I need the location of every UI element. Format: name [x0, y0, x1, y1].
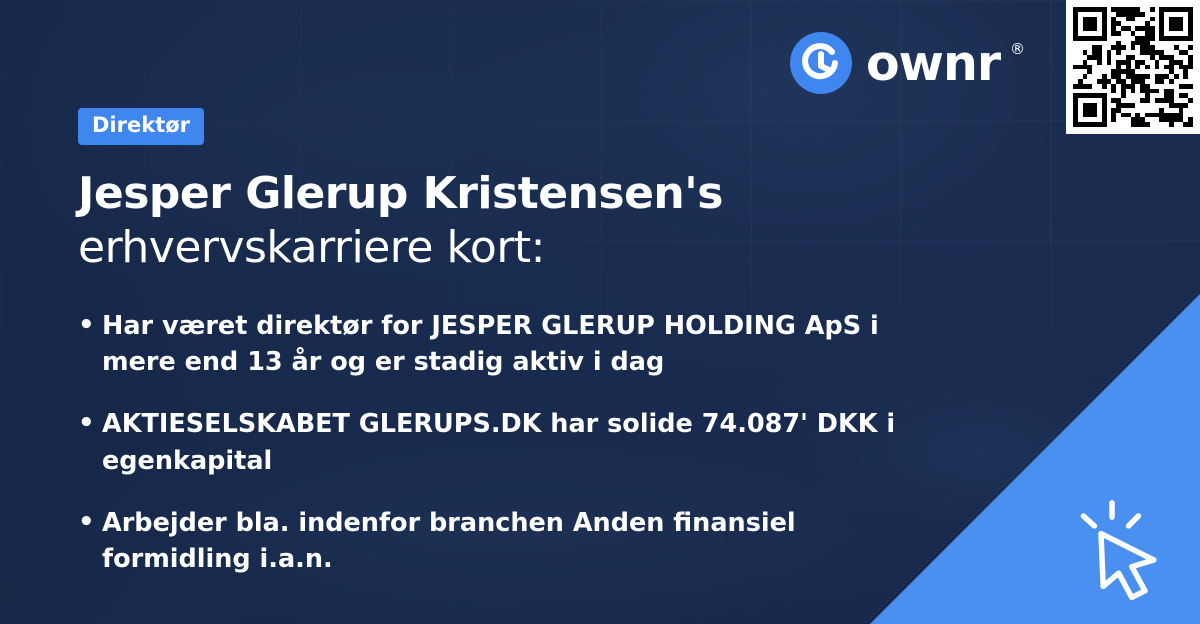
- fact-list: Har været direktør for JESPER GLERUP HOL…: [78, 308, 950, 603]
- page-title: Jesper Glerup Kristensen's erhvervskarri…: [78, 167, 960, 274]
- promo-card: ownr ® Direktør Jesper Glerup Kristensen…: [0, 0, 1200, 624]
- ownr-logo-text: ownr: [866, 39, 1000, 88]
- page-title-line2: erhvervskarriere kort:: [78, 221, 960, 275]
- click-cursor-icon: [1068, 494, 1178, 604]
- list-item: Arbejder bla. indenfor branchen Anden fi…: [78, 505, 950, 577]
- list-item: AKTIESELSKABET GLERUPS.DK har solide 74.…: [78, 406, 950, 478]
- ownr-logo: ownr ®: [790, 32, 1025, 94]
- list-item: Har været direktør for JESPER GLERUP HOL…: [78, 308, 950, 380]
- qr-code[interactable]: [1066, 0, 1200, 134]
- headline-block: Direktør Jesper Glerup Kristensen's erhv…: [78, 108, 960, 274]
- circular-arrow-logo-icon: [790, 32, 852, 94]
- role-badge: Direktør: [78, 108, 204, 145]
- page-title-line1: Jesper Glerup Kristensen's: [78, 167, 960, 221]
- qr-code-matrix: [1073, 7, 1193, 127]
- registered-trademark-mark: ®: [1010, 40, 1025, 58]
